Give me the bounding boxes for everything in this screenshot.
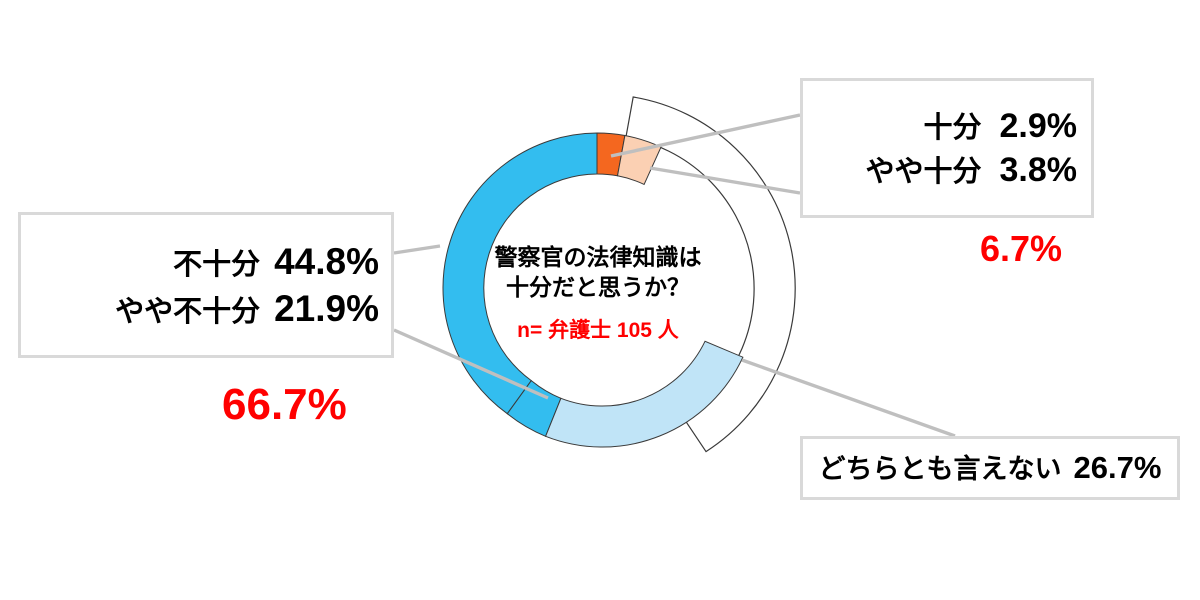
callout-value-sufficient: 2.9% [1000, 107, 1078, 145]
callout-box-insufficient: 不十分 44.8% やや不十分 21.9% [18, 212, 394, 358]
callout-label-somewhat-insufficient: やや不十分 [115, 296, 260, 328]
total-sufficient-percent: 6.7% [980, 228, 1062, 270]
callout-value-insufficient: 44.8% [274, 241, 379, 282]
donut-center-text: 警察官の法律知識は 十分だと思うか？ n= 弁護士 105 人 [470, 242, 726, 344]
center-sample-size: n= 弁護士 105 人 [470, 317, 726, 345]
callout-value-neither: 26.7% [1074, 451, 1162, 486]
callout-value-somewhat-sufficient: 3.8% [1000, 151, 1078, 189]
callout-row-neither: どちらとも言えない 26.7% [819, 451, 1162, 486]
leader-line-neither [742, 360, 955, 436]
callout-row-somewhat-sufficient: やや十分 3.8% [817, 151, 1077, 189]
total-insufficient-percent: 66.7% [222, 380, 347, 430]
center-question-line-1: 警察官の法律知識は [470, 242, 726, 272]
callout-row-sufficient: 十分 2.9% [817, 107, 1077, 145]
callout-label-neither: どちらとも言えない [819, 454, 1062, 484]
callout-box-sufficient: 十分 2.9% やや十分 3.8% [800, 78, 1094, 218]
callout-box-neither: どちらとも言えない 26.7% [800, 436, 1180, 500]
callout-row-insufficient: 不十分 44.8% [33, 241, 379, 282]
callout-row-somewhat-insufficient: やや不十分 21.9% [33, 288, 379, 329]
leader-line-insufficient [394, 246, 440, 253]
center-question-line-2: 十分だと思うか？ [470, 272, 726, 302]
callout-label-somewhat-sufficient: やや十分 [865, 156, 981, 188]
callout-label-sufficient: 十分 [923, 112, 981, 144]
chart-canvas: 警察官の法律知識は 十分だと思うか？ n= 弁護士 105 人 十分 2.9% … [0, 0, 1200, 600]
callout-label-insufficient: 不十分 [173, 249, 260, 281]
callout-value-somewhat-insufficient: 21.9% [274, 288, 379, 329]
